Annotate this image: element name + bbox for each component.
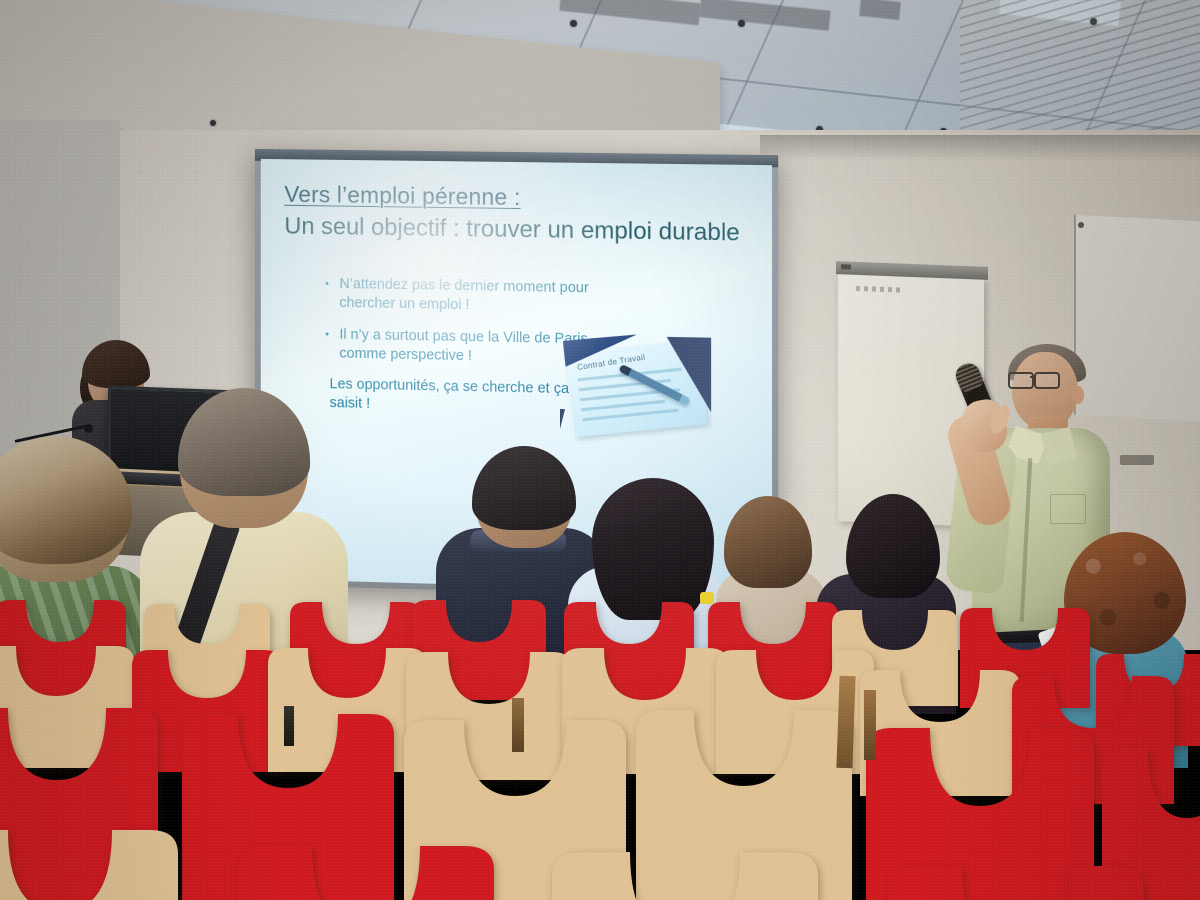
- chair-frame-leg: [836, 676, 855, 769]
- slide-title-line1: Vers l’emploi pérenne: [284, 181, 507, 210]
- flipchart-clamp-knob: [841, 264, 851, 269]
- chair-row0-3: [540, 842, 830, 900]
- wall-fixture: [1120, 455, 1154, 465]
- slide-title-underlined: Vers l’emploi pérenne :: [284, 181, 753, 214]
- chair-frame-leg: [512, 698, 524, 752]
- slide-title-line2: Un seul objectif : trouver un emploi dur…: [284, 212, 743, 248]
- flipchart-scribble: [856, 286, 902, 293]
- slide-title-line1-suffix: :: [507, 184, 520, 210]
- slide-bullet-3: Les opportunités, ça se cherche et ça se…: [324, 375, 594, 419]
- slide-bullet-2: Il n’y a surtout pas que la Ville de Par…: [324, 325, 594, 368]
- slide-bullet-list: N’attendez pas le dernier moment pour ch…: [284, 274, 594, 418]
- speaker-ear: [1072, 386, 1084, 404]
- chair-row0-1: [0, 820, 190, 900]
- speaker-shirt-pocket: [1050, 494, 1086, 524]
- chair-frame-leg: [864, 690, 876, 760]
- photo-scene: Vers l’emploi pérenne : Un seul objectif…: [0, 0, 1200, 900]
- chair-row0-4: [876, 856, 1156, 900]
- whiteboard-fixing-dot: [1078, 222, 1084, 228]
- chair-row0-2: [226, 836, 506, 900]
- chair-frame-leg: [284, 706, 294, 746]
- contract-accent-mark: [560, 409, 565, 429]
- slide-bullet-1: N’attendez pas le dernier moment pour ch…: [324, 275, 594, 318]
- eyeglasses-icon: [1008, 372, 1066, 385]
- whiteboard-edge: [1074, 215, 1200, 422]
- employment-contract-clipart: Contrat de Travail: [558, 331, 727, 445]
- microphone-stand-head: [84, 424, 93, 433]
